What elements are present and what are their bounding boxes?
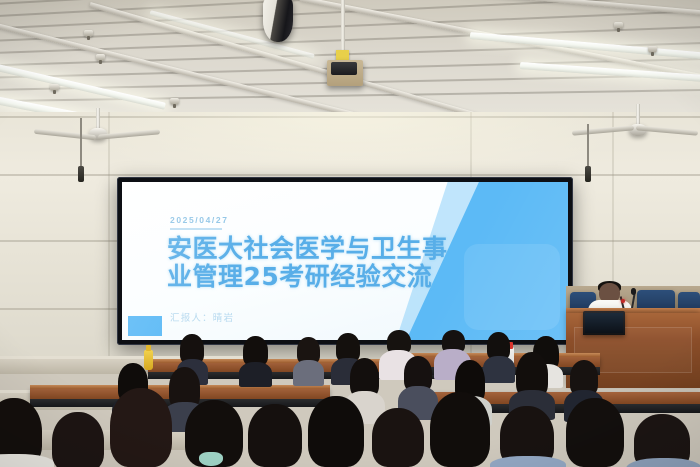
person-hair — [308, 396, 364, 467]
microphone-head-icon — [631, 288, 636, 295]
yellow-bottle — [144, 350, 153, 370]
person-hair — [566, 398, 624, 467]
hanging-plug — [78, 166, 84, 182]
presentation-slide: 2025/04/27 安医大社会医学与卫生事 业管理25考研经验交流 汇报人：晴… — [122, 182, 568, 340]
sprinkler-head-icon — [614, 22, 623, 29]
person-hair — [372, 408, 424, 467]
person-torso — [0, 454, 54, 467]
fluorescent-light-icon — [520, 62, 700, 84]
person-hair — [52, 412, 104, 467]
laptop-screen — [585, 313, 623, 333]
hanging-wire — [80, 118, 82, 168]
person-hair-tie — [199, 452, 223, 466]
slide-corner-accent — [128, 316, 162, 336]
ceiling — [0, 0, 700, 118]
projection-screen[interactable]: 2025/04/27 安医大社会医学与卫生事 业管理25考研经验交流 汇报人：晴… — [117, 177, 573, 345]
hanging-wire — [587, 124, 589, 168]
yellow-bottle-cap — [146, 345, 151, 351]
person-torso — [483, 356, 515, 383]
person-hair — [110, 388, 172, 467]
projector-lens-icon — [331, 62, 357, 75]
hanging-plug — [585, 166, 591, 182]
sprinkler-head-icon — [50, 84, 59, 91]
person-hair — [430, 392, 490, 467]
projector-mount-rod — [341, 0, 345, 56]
laptop-icon[interactable] — [583, 311, 625, 335]
slide-date-underline — [170, 228, 222, 230]
slide-presenter: 汇报人：晴岩 — [170, 310, 234, 324]
lecture-hall-photo: 2025/04/27 安医大社会医学与卫生事 业管理25考研经验交流 汇报人：晴… — [0, 0, 700, 467]
person-torso — [490, 456, 566, 467]
microphone-indicator — [621, 299, 625, 303]
slide-date: 2025/04/27 — [170, 215, 229, 225]
person-torso — [293, 360, 324, 386]
sprinkler-head-icon — [170, 98, 179, 105]
slide-title-line-1: 安医大社会医学与卫生事 — [167, 235, 467, 263]
person-hair — [248, 404, 302, 467]
ceiling-projector-icon — [327, 60, 363, 86]
dome-camera-icon — [263, 0, 293, 42]
person-torso — [239, 362, 272, 387]
slide-title: 安医大社会医学与卫生事 业管理25考研经验交流 — [167, 235, 467, 291]
sprinkler-head-icon — [84, 30, 93, 37]
slide-title-line-2: 业管理25考研经验交流 — [167, 263, 467, 291]
sprinkler-head-icon — [648, 46, 657, 53]
sprinkler-head-icon — [96, 54, 105, 61]
slide-accent-inner — [464, 244, 560, 330]
